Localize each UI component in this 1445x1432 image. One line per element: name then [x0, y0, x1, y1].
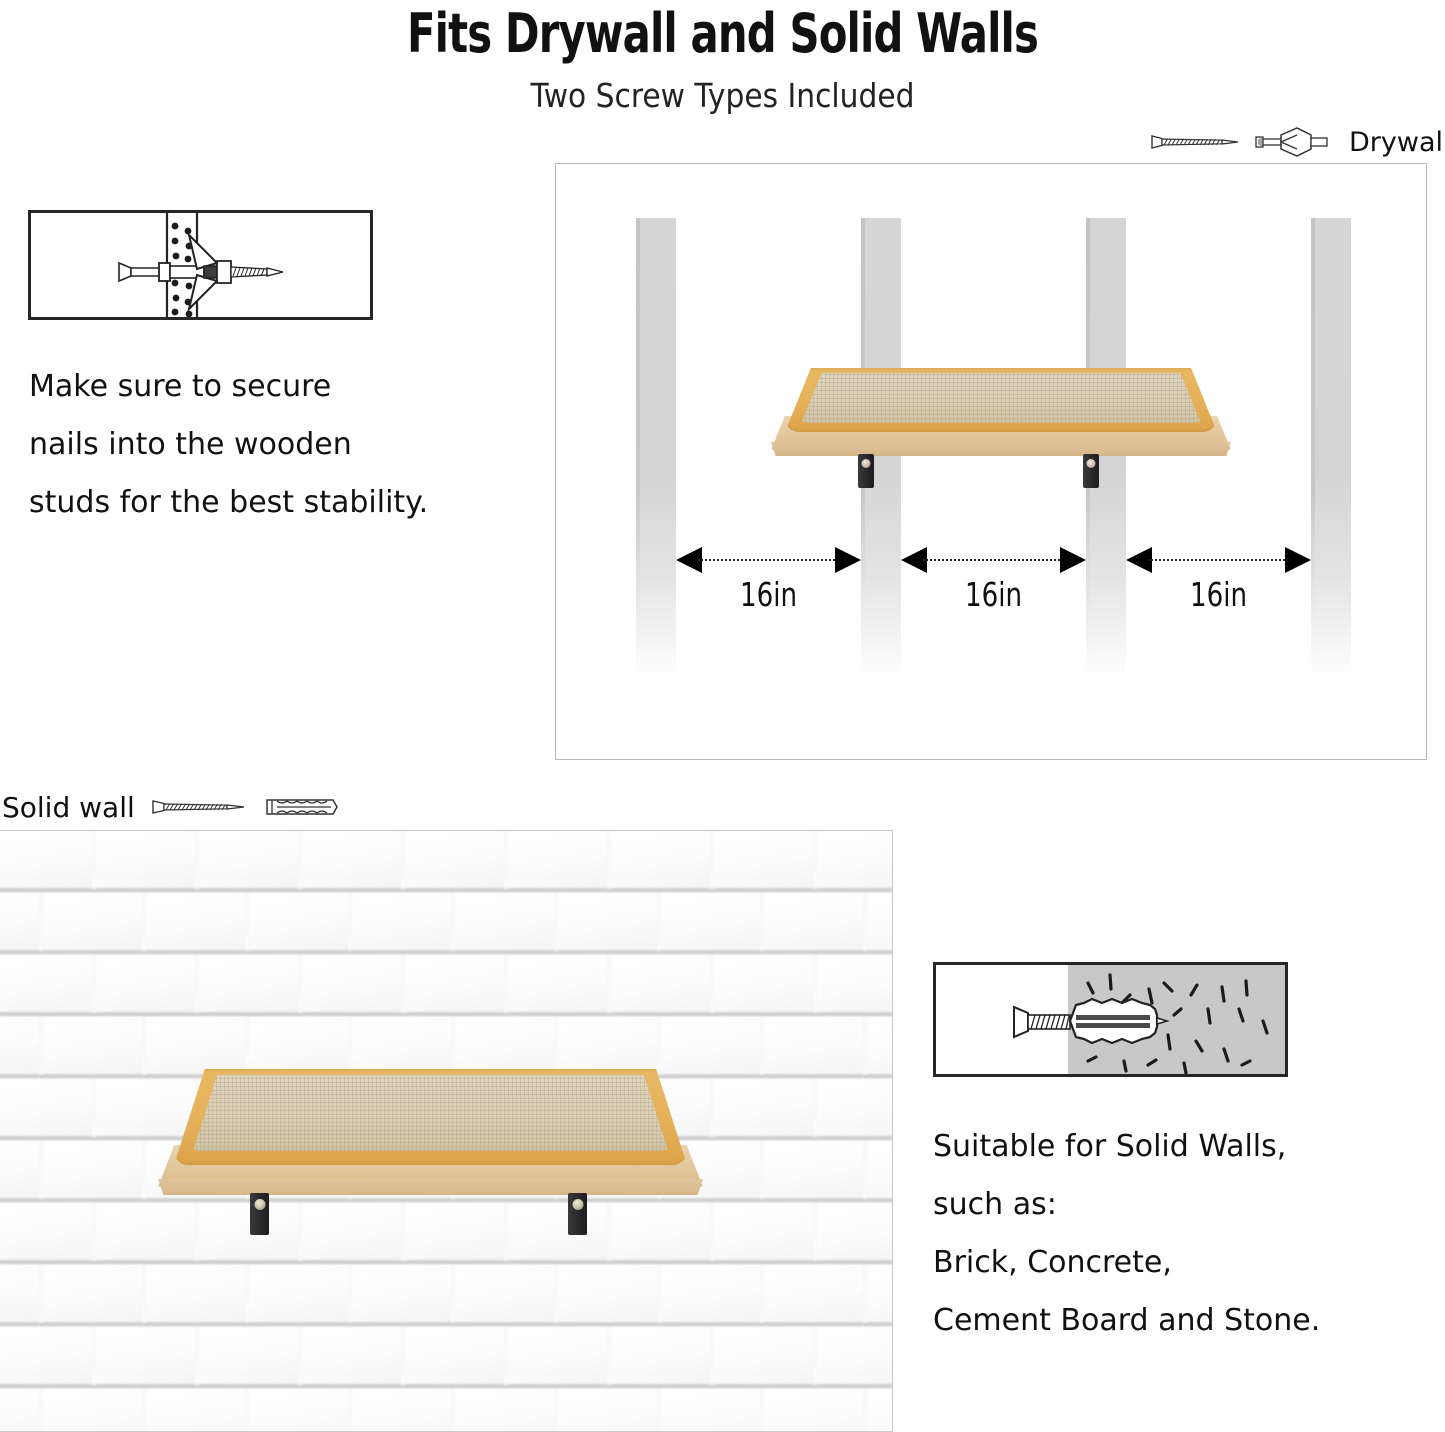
- wall-stud: [636, 218, 676, 678]
- brick: [508, 831, 607, 888]
- brick: [0, 1265, 39, 1322]
- brick: [302, 1327, 401, 1384]
- stud-dimension: 16in: [676, 547, 861, 573]
- brick: [96, 1327, 195, 1384]
- mounting-bracket: [568, 1193, 587, 1235]
- brick-row: [0, 1265, 893, 1327]
- brick: [405, 955, 504, 1012]
- brick: [867, 893, 894, 950]
- solid-wall-instruction-line: Cement Board and Stone.: [933, 1306, 1383, 1336]
- brick: [0, 1141, 39, 1198]
- brick: [867, 1265, 894, 1322]
- brick: [455, 1389, 554, 1432]
- brick: [0, 1203, 92, 1260]
- brick: [508, 1327, 607, 1384]
- brick: [352, 893, 451, 950]
- brick: [558, 1389, 657, 1432]
- brick: [611, 1327, 710, 1384]
- brick: [661, 893, 760, 950]
- brick: [714, 955, 813, 1012]
- mounting-bracket: [1083, 454, 1099, 488]
- brick: [714, 831, 813, 888]
- arrow-right-icon: [1285, 547, 1311, 573]
- drywall-legend: Drywall: [1148, 122, 1443, 162]
- solid-wall-instruction-line: Suitable for Solid Walls,: [933, 1132, 1383, 1162]
- drywall-instruction-line: Make sure to secure: [29, 372, 459, 402]
- brick: [43, 1265, 142, 1322]
- brick: [764, 1389, 863, 1432]
- brick: [0, 1327, 92, 1384]
- brick: [96, 831, 195, 888]
- bracket-screw-head: [254, 1199, 265, 1210]
- mortar-line: [0, 1323, 893, 1326]
- brick: [817, 1203, 893, 1260]
- header: Fits Drywall and Solid Walls Two Screw T…: [0, 0, 1445, 120]
- brick: [146, 893, 245, 950]
- solid-wall-legend-label: Solid wall: [2, 791, 135, 824]
- mortar-line: [0, 951, 893, 954]
- page-title: Fits Drywall and Solid Walls: [101, 2, 1344, 65]
- drywall-toggle-anchor-cross-section: [28, 210, 373, 320]
- bracket-screw-head: [1087, 459, 1096, 468]
- brick: [302, 955, 401, 1012]
- brick-row: [0, 893, 893, 955]
- brick: [43, 1017, 142, 1074]
- shelf-board-front-edge: [771, 442, 1231, 456]
- brick: [508, 955, 607, 1012]
- brick: [764, 1141, 863, 1198]
- mortar-line: [0, 1013, 893, 1016]
- brick: [764, 893, 863, 950]
- brick: [455, 893, 554, 950]
- page-subtitle: Two Screw Types Included: [72, 76, 1373, 115]
- dimension-line: [1148, 559, 1289, 561]
- mortar-line: [0, 1261, 893, 1264]
- wall-mounted-wooden-shelf-with-sisal-mat: [771, 354, 1231, 464]
- brick: [867, 1017, 894, 1074]
- brick: [199, 1327, 298, 1384]
- brick: [558, 893, 657, 950]
- brick: [405, 1327, 504, 1384]
- brick: [817, 1079, 893, 1136]
- bracket-screw-head: [862, 459, 871, 468]
- brick: [764, 1265, 863, 1322]
- wall-stud: [1311, 218, 1351, 678]
- drywall-instruction-line: studs for the best stability.: [29, 488, 459, 518]
- brick: [661, 1265, 760, 1322]
- brick: [146, 1389, 245, 1432]
- stud-dimension: 16in: [1126, 547, 1311, 573]
- brick: [611, 831, 710, 888]
- brick: [714, 1327, 813, 1384]
- solid-wall-instruction-line: such as:: [933, 1190, 1383, 1220]
- brick: [352, 1265, 451, 1322]
- drywall-instruction-line: nails into the wooden: [29, 430, 459, 460]
- brick: [43, 1389, 142, 1432]
- brick: [0, 1389, 39, 1432]
- brick: [249, 1389, 348, 1432]
- brick-row: [0, 831, 893, 893]
- brick: [199, 831, 298, 888]
- brick: [817, 831, 893, 888]
- brick: [661, 1389, 760, 1432]
- dimension-label: 16in: [1137, 575, 1300, 614]
- screw-icon: [1148, 129, 1243, 155]
- brick: [0, 893, 39, 950]
- brick: [817, 955, 893, 1012]
- brick: [0, 831, 92, 888]
- solid-wall-legend: Solid wall: [2, 787, 342, 827]
- brick: [714, 1079, 813, 1136]
- brick: [0, 1017, 39, 1074]
- concrete-wall-plug-cross-section: [933, 962, 1288, 1077]
- brick: [352, 1389, 451, 1432]
- brick: [455, 1265, 554, 1322]
- shelf-sisal-mat: [797, 373, 1205, 423]
- brick: [867, 1141, 894, 1198]
- brick: [714, 1203, 813, 1260]
- solid-wall-instruction-line: Brick, Concrete,: [933, 1248, 1383, 1278]
- mounting-bracket: [250, 1193, 269, 1235]
- arrow-right-icon: [835, 547, 861, 573]
- brick: [249, 893, 348, 950]
- drywall-legend-label: Drywall: [1349, 127, 1445, 158]
- brick: [199, 955, 298, 1012]
- wall-plug-icon: [263, 794, 341, 820]
- mortar-line: [0, 889, 893, 892]
- dimension-line: [923, 559, 1064, 561]
- mortar-line: [0, 1385, 893, 1388]
- brick: [302, 831, 401, 888]
- toggle-anchor-icon: [1253, 124, 1331, 160]
- dimension-label: 16in: [912, 575, 1075, 614]
- shelf-board-front-edge: [158, 1179, 703, 1195]
- mounting-bracket: [858, 454, 874, 488]
- shelf-sisal-mat: [188, 1075, 673, 1151]
- brick: [0, 955, 92, 1012]
- brick: [558, 1265, 657, 1322]
- brick-row: [0, 955, 893, 1017]
- brick: [764, 1017, 863, 1074]
- bracket-screw-head: [572, 1199, 583, 1210]
- brick-row: [0, 1389, 893, 1432]
- drywall-instruction-text: Make sure to secure nails into the woode…: [29, 372, 459, 546]
- brick: [96, 955, 195, 1012]
- brick: [405, 831, 504, 888]
- dimension-line: [698, 559, 839, 561]
- brick-row: [0, 1327, 893, 1389]
- brick: [611, 955, 710, 1012]
- brick: [867, 1389, 894, 1432]
- brick: [146, 1265, 245, 1322]
- brick: [249, 1265, 348, 1322]
- solid-wall-instruction-text: Suitable for Solid Walls, such as: Brick…: [933, 1132, 1383, 1364]
- screw-icon: [149, 794, 249, 820]
- stud-spacing-illustration: 16in 16in 16in: [555, 163, 1427, 760]
- brick: [817, 1327, 893, 1384]
- dimension-label: 16in: [687, 575, 850, 614]
- stud-dimension: 16in: [901, 547, 1086, 573]
- brick: [0, 1079, 92, 1136]
- brick: [43, 893, 142, 950]
- wall-mounted-wooden-shelf-with-sisal-mat: [158, 1053, 703, 1233]
- arrow-right-icon: [1060, 547, 1086, 573]
- shelf-on-brick-wall-photo: [0, 830, 893, 1432]
- brick: [43, 1141, 142, 1198]
